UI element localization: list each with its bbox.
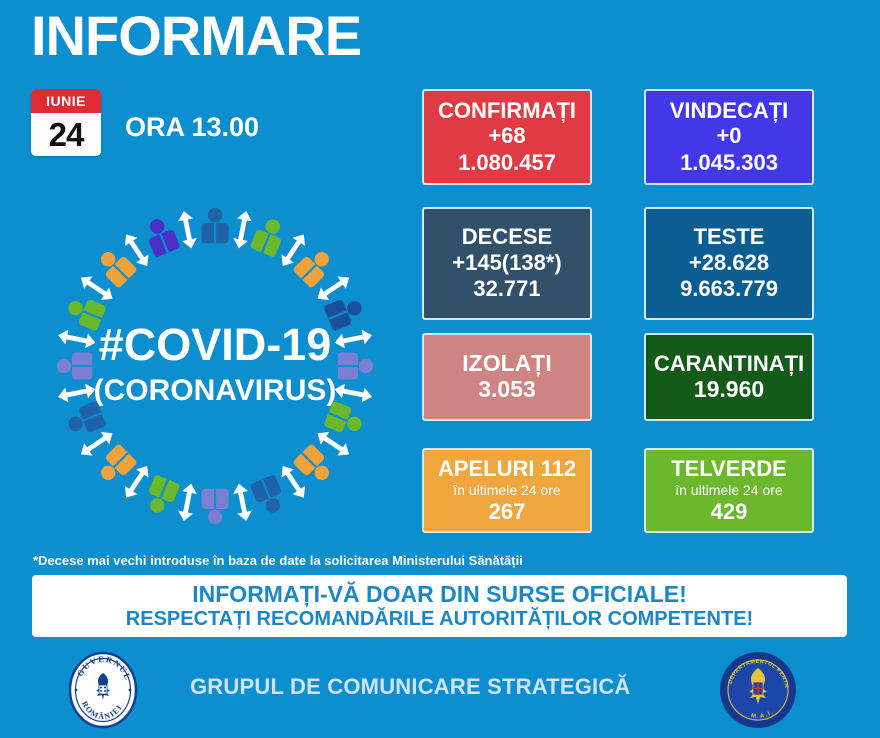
stat-sublabel: în ultimele 24 ore — [675, 481, 782, 499]
stat-box-decese: DECESE +145(138*) 32.771 — [422, 207, 592, 320]
banner-line-1: INFORMAȚI-VĂ DOAR DIN SURSE OFICIALE! — [192, 581, 687, 607]
calendar-day-label: 24 — [49, 118, 84, 151]
guvernul-romaniei-logo-icon: GUVERNUL ROMÂNIEI — [68, 651, 138, 729]
stat-box-carantinati: CARANTINAȚI 19.960 — [644, 333, 814, 421]
stat-label: IZOLAȚI — [462, 350, 551, 376]
stat-box-vindecati: VINDECAȚI +0 1.045.303 — [644, 89, 814, 185]
mai-emergency-department-logo-icon: DEPARTAMENTUL PENTRU SITUAȚII DE URGENȚĂ… — [718, 650, 798, 730]
stat-label: CONFIRMAȚI — [438, 98, 576, 123]
stat-total: 19.960 — [694, 376, 764, 404]
stat-box-teste: TESTE +28.628 9.663.779 — [644, 207, 814, 320]
stat-total: 9.663.779 — [680, 276, 778, 302]
coronavirus-subtitle-text: (CORONAVIRUS) — [94, 374, 337, 407]
stat-label: TESTE — [694, 224, 765, 249]
stat-label: CARANTINAȚI — [654, 351, 804, 376]
stat-box-confirmati: CONFIRMAȚI +68 1.080.457 — [422, 89, 592, 185]
stat-label: DECESE — [462, 224, 552, 249]
stat-total: 429 — [711, 499, 748, 525]
stat-box-telverde: TELVERDE în ultimele 24 ore 429 — [644, 448, 814, 533]
stat-total: 1.045.303 — [680, 150, 778, 176]
covid-hashtag-text: #COVID-19 — [99, 319, 332, 370]
stat-total: 267 — [489, 499, 526, 525]
hour-label: ORA 13.00 — [125, 112, 259, 143]
official-sources-banner: INFORMAȚI-VĂ DOAR DIN SURSE OFICIALE! RE… — [32, 575, 847, 637]
footer-label: GRUPUL DE COMUNICARE STRATEGICĂ — [190, 674, 631, 700]
stat-total: 1.080.457 — [458, 150, 556, 176]
banner-line-2: RESPECTAȚI RECOMANDĂRILE AUTORITĂȚILOR C… — [126, 607, 753, 631]
footnote-text: *Decese mai vechi introduse în baza de d… — [33, 553, 523, 568]
stat-total: 32.771 — [473, 276, 540, 302]
stat-label: VINDECAȚI — [670, 98, 789, 123]
calendar-month-label: IUNIE — [46, 94, 86, 108]
stat-box-izolati: IZOLAȚI 3.053 — [422, 333, 592, 421]
covid-circle-illustration: #COVID-19 (CORONAVIRUS) — [30, 188, 400, 548]
calendar-badge: IUNIE 24 — [31, 89, 101, 156]
stat-total: 3.053 — [478, 376, 536, 404]
stat-box-apeluri: APELURI 112 în ultimele 24 ore 267 — [422, 448, 592, 533]
stat-delta: +0 — [716, 123, 741, 149]
calendar-month-header: IUNIE — [31, 89, 101, 113]
stat-delta: +68 — [488, 123, 525, 149]
calendar-day-body: 24 — [31, 113, 101, 156]
stat-label: TELVERDE — [671, 456, 787, 481]
stat-sublabel: în ultimele 24 ore — [453, 481, 560, 499]
stat-label: APELURI 112 — [438, 456, 576, 481]
stat-delta: +28.628 — [689, 250, 769, 276]
page-title: INFORMARE — [31, 8, 361, 64]
stat-delta: +145(138*) — [452, 250, 561, 276]
